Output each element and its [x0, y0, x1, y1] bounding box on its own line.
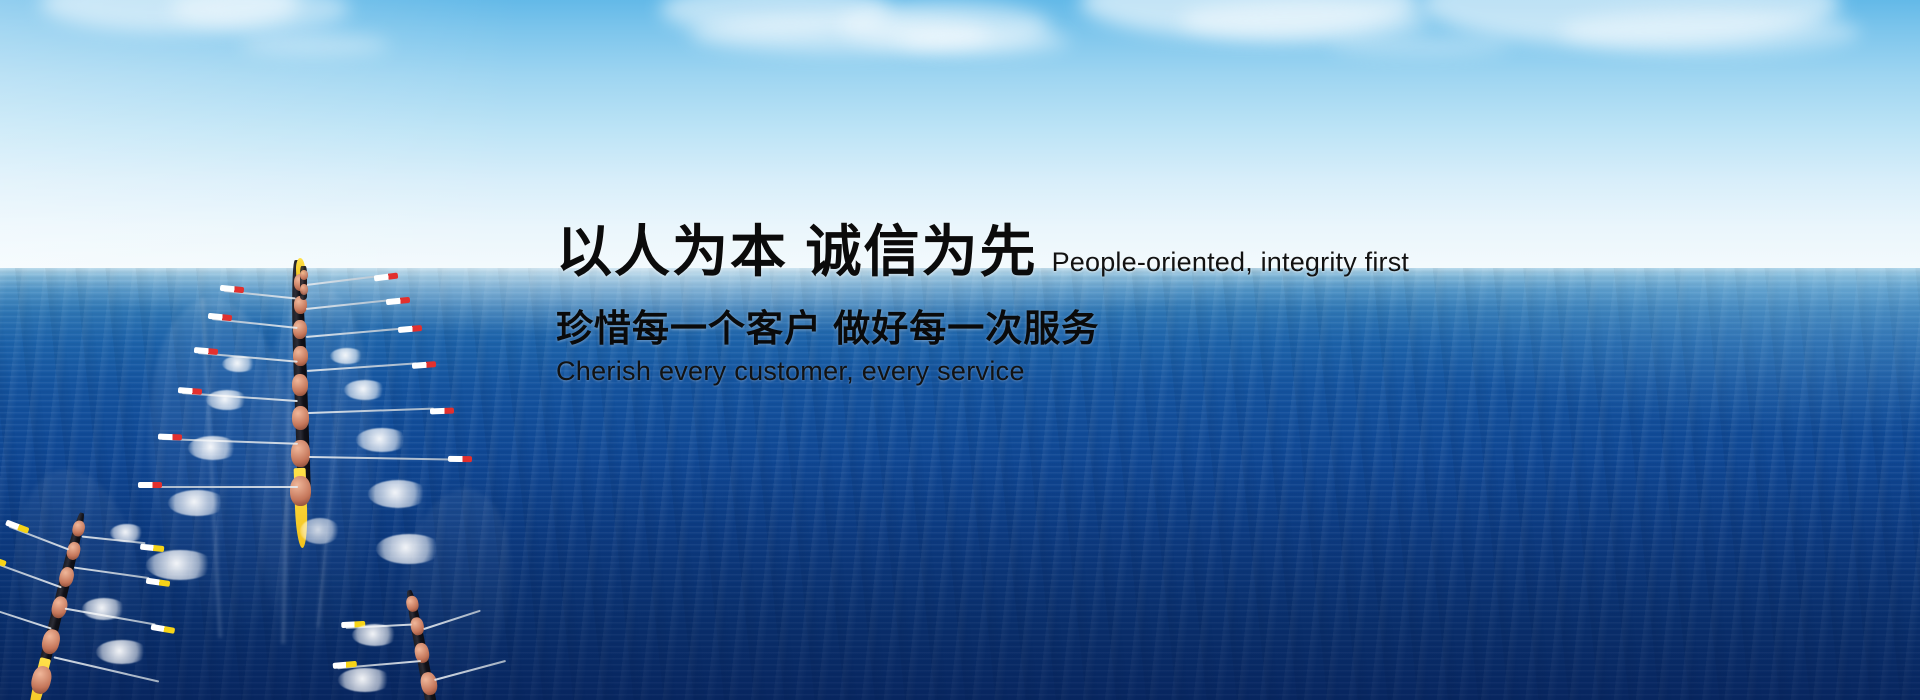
oar-blade	[374, 273, 399, 282]
oar-blade	[151, 624, 176, 634]
rower	[293, 346, 308, 366]
cloud-icon	[240, 34, 390, 56]
water-splash	[356, 428, 408, 452]
oar-blade	[140, 544, 164, 552]
headline-row: 以人为本 诚信为先 People-oriented, integrity fir…	[556, 222, 1556, 282]
cloud-icon	[1330, 36, 1510, 56]
water-splash	[110, 524, 144, 542]
oar-blade	[0, 553, 7, 567]
oar-blade	[430, 408, 454, 415]
rower	[290, 476, 311, 506]
water-splash	[338, 668, 392, 692]
rower	[65, 541, 82, 562]
rower	[292, 374, 308, 396]
rower	[292, 406, 309, 430]
slogan-block: 以人为本 诚信为先 People-oriented, integrity fir…	[556, 222, 1556, 387]
hero-banner: 以人为本 诚信为先 People-oriented, integrity fir…	[0, 0, 1920, 700]
water-splash	[146, 550, 214, 580]
water-splash	[206, 390, 248, 410]
water-splash	[300, 518, 340, 544]
rower	[419, 671, 439, 697]
water-splash	[168, 490, 226, 516]
cloud-icon	[1560, 10, 1860, 54]
headline-chinese: 以人为本 诚信为先	[556, 222, 1038, 282]
oar-blade	[398, 325, 422, 333]
rower	[293, 320, 307, 339]
water-splash	[96, 640, 148, 664]
oar-blade	[146, 578, 171, 587]
oar-blade	[448, 456, 472, 462]
oar-blade	[138, 482, 162, 488]
rower	[300, 284, 308, 295]
water-splash	[222, 356, 256, 372]
oar	[306, 275, 378, 286]
water-splash	[330, 348, 364, 364]
water-splash	[188, 436, 238, 460]
water-splash	[376, 534, 442, 564]
subtitle-chinese: 珍惜每一个客户 做好每一次服务	[556, 298, 1556, 352]
water-splash	[352, 624, 398, 646]
rowing-boat	[292, 266, 314, 306]
oar-blade	[412, 361, 436, 369]
oar-blade	[158, 434, 182, 441]
water-splash	[82, 598, 126, 620]
subtitle-english: Cherish every customer, every service	[556, 356, 1556, 387]
oar	[142, 486, 298, 488]
water-splash	[368, 480, 428, 508]
rower	[29, 664, 54, 696]
headline-english: People-oriented, integrity first	[1052, 247, 1410, 278]
water-splash	[344, 380, 386, 400]
rower	[40, 627, 63, 655]
rower	[300, 270, 308, 280]
cloud-icon	[900, 28, 1070, 54]
oar-blade	[386, 297, 410, 305]
